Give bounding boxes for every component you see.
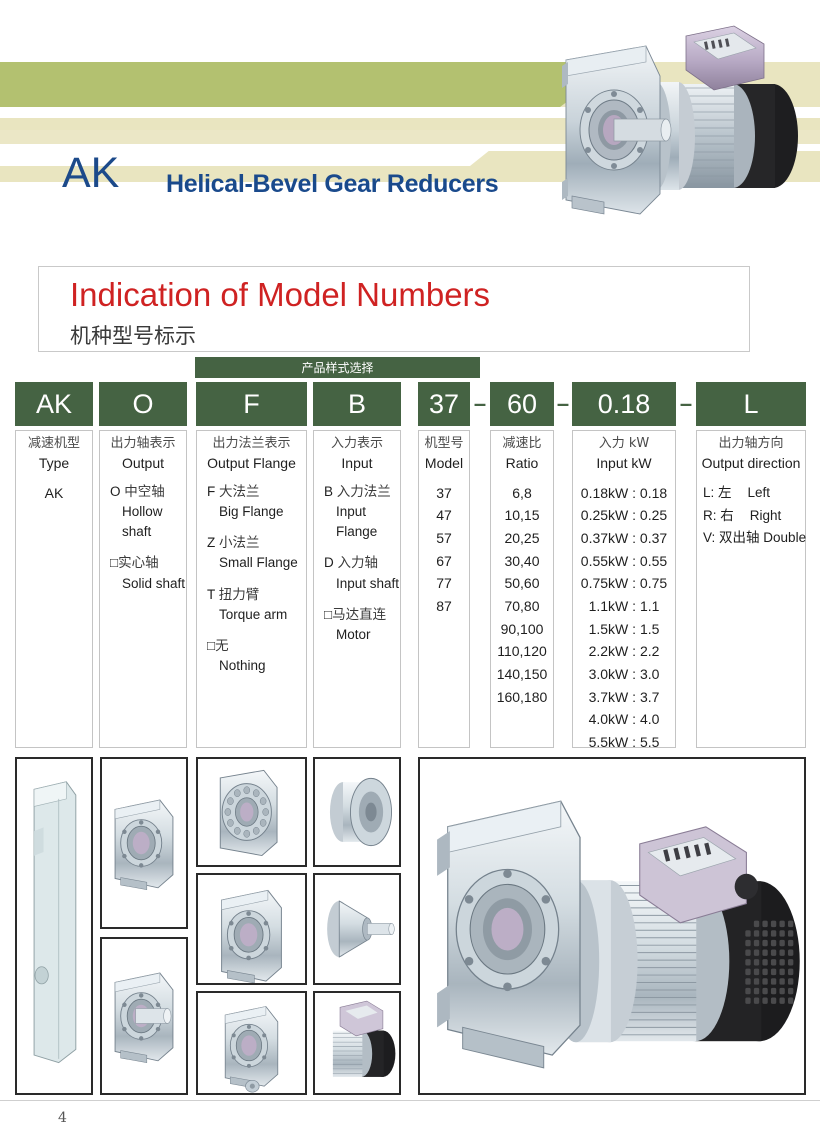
legend-entry-spacer: [197, 677, 306, 688]
legend-entry-cn: 大法兰: [219, 484, 260, 500]
model-code-input: B: [313, 382, 401, 426]
legend-entry-code: □: [207, 638, 215, 653]
legend-entry-en: Nothing: [197, 656, 306, 676]
legend-column-ratio: 减速比Ratio6,810,1520,2530,4050,6070,8090,1…: [490, 430, 554, 748]
legend-entry-en: Motor: [314, 625, 400, 645]
legend-entry-code: D: [324, 555, 334, 570]
column-header-cn: 减速比: [491, 435, 553, 454]
legend-value: 30,40: [491, 550, 553, 573]
legend-entry-en: Big Flange: [197, 502, 306, 522]
torque-arm-bracket-illustration: [17, 759, 91, 1093]
product-style-selection-bar: 产品样式选择: [195, 357, 480, 378]
legend-value: 1.1kW : 1.1: [573, 595, 675, 618]
model-code-ratio: 60: [490, 382, 554, 426]
model-code-output-flange: F: [196, 382, 307, 426]
legend-entry-code-cn: □马达直连: [314, 605, 400, 625]
direction-code: R:: [703, 508, 717, 523]
legend-entry-spacer: [314, 645, 400, 656]
legend-entry-code: O: [110, 484, 121, 499]
legend-value: AK: [16, 482, 92, 505]
legend-entry-spacer: [314, 542, 400, 553]
legend-value: 67: [419, 550, 469, 573]
legend-entry: D 入力轴Input shaft: [314, 553, 400, 594]
legend-value: 0.55kW : 0.55: [573, 550, 675, 573]
legend-entry-code: □: [324, 607, 332, 622]
legend-entry-cn: 马达直连: [332, 607, 386, 623]
legend-entry: O 中空轴Hollow shaft: [100, 482, 186, 543]
direction-cn: 左: [718, 485, 732, 501]
legend-entry-code-cn: O 中空轴: [100, 482, 186, 502]
legend-column-model: 机型号Model374757677787: [418, 430, 470, 748]
legend-value: 6,8: [491, 482, 553, 505]
column-header-cn: 出力法兰表示: [197, 435, 306, 454]
product-image-hollow-shaft-gearbox: [100, 757, 188, 929]
legend-entry-spacer: [197, 625, 306, 636]
legend-value: 1.5kW : 1.5: [573, 618, 675, 641]
legend-entry-code-cn: □实心轴: [100, 553, 186, 573]
legend-value: 70,80: [491, 595, 553, 618]
page-number: 4: [58, 1110, 67, 1126]
legend-entry-spacer: [100, 594, 186, 605]
legend-entry-cn: 入力法兰: [337, 484, 391, 500]
column-header-en: Output Flange: [197, 454, 306, 473]
legend-entry-cn: 实心轴: [118, 555, 159, 571]
page-title: Helical-Bevel Gear Reducers: [166, 170, 498, 199]
legend-entry-en: Input Flange: [314, 502, 400, 543]
legend-entry-en: Hollow shaft: [100, 502, 186, 543]
legend-value: 4.0kW : 4.0: [573, 708, 675, 731]
full-assembly-with-motor-illustration: [420, 759, 804, 1093]
legend-value: 3.7kW : 3.7: [573, 686, 675, 709]
brand-code-title: AK: [62, 152, 119, 195]
model-code-separator: –: [554, 382, 572, 426]
legend-column-output-flange: 出力法兰表示Output FlangeF 大法兰Big FlangeZ 小法兰S…: [196, 430, 307, 748]
input-flange-unit-illustration: [315, 759, 399, 865]
legend-value: 2.2kW : 2.2: [573, 640, 675, 663]
legend-entry-code-cn: T 扭力臂: [197, 585, 306, 605]
column-header-en: Output: [100, 454, 186, 473]
legend-column-output: 出力轴表示OutputO 中空轴Hollow shaft□实心轴Solid sh…: [99, 430, 187, 748]
model-code-output-direction: L: [696, 382, 806, 426]
product-image-torque-arm-gearbox: [196, 991, 307, 1095]
legend-value: 90,100: [491, 618, 553, 641]
input-shaft-unit-illustration: [315, 875, 399, 983]
legend-entry: □实心轴Solid shaft: [100, 553, 186, 594]
direction-en: Left: [748, 485, 771, 500]
model-code-model: 37: [418, 382, 470, 426]
legend-entry: □马达直连Motor: [314, 605, 400, 646]
section-title-chinese: 机种型号标示: [70, 320, 196, 350]
model-code-output: O: [99, 382, 187, 426]
legend-entry: B 入力法兰Input Flange: [314, 482, 400, 543]
torque-arm-gearbox-illustration: [198, 993, 305, 1093]
column-header-en: Ratio: [491, 454, 553, 473]
product-image-solid-shaft-gearbox: [100, 937, 188, 1095]
solid-shaft-gearbox-illustration: [102, 939, 186, 1093]
direction-en: Double: [763, 530, 806, 545]
legend-entry-code: F: [207, 484, 215, 499]
direction-cn: 双出轴: [719, 530, 760, 546]
column-header-en: Type: [16, 454, 92, 473]
product-image-small-flange-gearbox: [196, 873, 307, 985]
column-header-cn: 出力轴方向: [697, 435, 805, 454]
motor-direct-mount-unit-illustration: [315, 993, 399, 1093]
column-header-en: Input kW: [573, 454, 675, 473]
legend-value: 0.75kW : 0.75: [573, 572, 675, 595]
legend-value: 10,15: [491, 504, 553, 527]
small-flange-gearbox-illustration: [198, 875, 305, 983]
direction-code: V:: [703, 530, 715, 545]
legend-column-output-direction: 出力轴方向Output directionL: 左LeftR: 右RightV:…: [696, 430, 806, 748]
model-code-row: AKOFB37600.18L–––: [0, 382, 820, 426]
legend-entry-cn: 扭力臂: [219, 587, 260, 603]
product-image-full-assembly-with-motor: [418, 757, 806, 1095]
legend-column-input-kw: 入力 kWInput kW0.18kW : 0.180.25kW : 0.250…: [572, 430, 676, 748]
legend-direction-row: R: 右Right: [697, 505, 805, 528]
product-image-torque-arm-bracket: [15, 757, 93, 1095]
product-image-grid: [0, 757, 820, 1095]
column-header-en: Model: [419, 454, 469, 473]
legend-entry: F 大法兰Big Flange: [197, 482, 306, 523]
legend-value: 47: [419, 504, 469, 527]
hollow-shaft-gearbox-illustration: [102, 759, 186, 927]
legend-column-type: 减速机型TypeAK: [15, 430, 93, 748]
legend-value: 0.18kW : 0.18: [573, 482, 675, 505]
legend-value: 0.25kW : 0.25: [573, 504, 675, 527]
legend-entry-cn: 无: [215, 638, 229, 654]
legend-entry-en: Small Flange: [197, 553, 306, 573]
legend-entry: □无Nothing: [197, 636, 306, 677]
product-image-input-shaft-unit: [313, 873, 401, 985]
legend-entry-code-cn: D 入力轴: [314, 553, 400, 573]
legend-entry-cn: 小法兰: [219, 535, 260, 551]
legend-value: 3.0kW : 3.0: [573, 663, 675, 686]
header-banner: AK Helical-Bevel Gear Reducers: [0, 0, 820, 250]
legend-value: 160,180: [491, 686, 553, 709]
legend-entry-spacer: [197, 522, 306, 533]
legend-entry-code: □: [110, 555, 118, 570]
model-code-separator: –: [470, 382, 490, 426]
legend-entry-en: Input shaft: [314, 574, 400, 594]
legend-entry-code-cn: □无: [197, 636, 306, 656]
banner-green-band: [0, 62, 620, 107]
header-product-illustration: [528, 18, 813, 233]
product-image-input-flange-unit: [313, 757, 401, 867]
catalog-page: AK Helical-Bevel Gear Reducers Indicatio…: [0, 0, 820, 1142]
legend-entry-code-cn: Z 小法兰: [197, 533, 306, 553]
column-header-en: Output direction: [697, 454, 805, 473]
legend-entry-code-cn: B 入力法兰: [314, 482, 400, 502]
legend-entry-code: B: [324, 484, 333, 499]
legend-direction-row: V: 双出轴 Double: [697, 527, 805, 550]
column-header-en: Input: [314, 454, 400, 473]
legend-value: 5.5kW : 5.5: [573, 731, 675, 754]
model-code-type: AK: [15, 382, 93, 426]
legend-value: 140,150: [491, 663, 553, 686]
footer-divider: [0, 1100, 820, 1101]
legend-entry-en: Torque arm: [197, 605, 306, 625]
column-header-cn: 减速机型: [16, 435, 92, 454]
column-header-cn: 入力 kW: [573, 435, 675, 454]
legend-value: 57: [419, 527, 469, 550]
legend-entry-code: T: [207, 587, 215, 602]
direction-code: L:: [703, 485, 714, 500]
model-code-legend-columns: 减速机型TypeAK出力轴表示OutputO 中空轴Hollow shaft□实…: [0, 430, 820, 748]
legend-direction-row: L: 左Left: [697, 482, 805, 505]
direction-cn: 右: [720, 508, 734, 524]
legend-entry: T 扭力臂Torque arm: [197, 585, 306, 626]
model-code-separator: –: [676, 382, 696, 426]
legend-value: 77: [419, 572, 469, 595]
legend-entry-spacer: [314, 594, 400, 605]
legend-entry: Z 小法兰Small Flange: [197, 533, 306, 574]
legend-value: 20,25: [491, 527, 553, 550]
legend-entry-code-cn: F 大法兰: [197, 482, 306, 502]
legend-value: 37: [419, 482, 469, 505]
column-header-cn: 机型号: [419, 435, 469, 454]
legend-entry-en: Solid shaft: [100, 574, 186, 594]
legend-column-input: 入力表示InputB 入力法兰Input FlangeD 入力轴Input sh…: [313, 430, 401, 748]
big-flange-gearbox-illustration: [198, 759, 305, 865]
model-code-input-kw: 0.18: [572, 382, 676, 426]
legend-entry-code: Z: [207, 535, 215, 550]
legend-value: 50,60: [491, 572, 553, 595]
column-header-cn: 入力表示: [314, 435, 400, 454]
legend-value: 110,120: [491, 640, 553, 663]
section-title-english: Indication of Model Numbers: [70, 276, 490, 314]
legend-entry-spacer: [197, 574, 306, 585]
direction-en: Right: [750, 508, 782, 523]
legend-entry-cn: 入力轴: [338, 555, 379, 571]
legend-value: 0.37kW : 0.37: [573, 527, 675, 550]
legend-entry-cn: 中空轴: [124, 484, 165, 500]
legend-entry-spacer: [100, 542, 186, 553]
column-header-cn: 出力轴表示: [100, 435, 186, 454]
product-image-big-flange-gearbox: [196, 757, 307, 867]
product-image-motor-direct-mount-unit: [313, 991, 401, 1095]
legend-value: 87: [419, 595, 469, 618]
